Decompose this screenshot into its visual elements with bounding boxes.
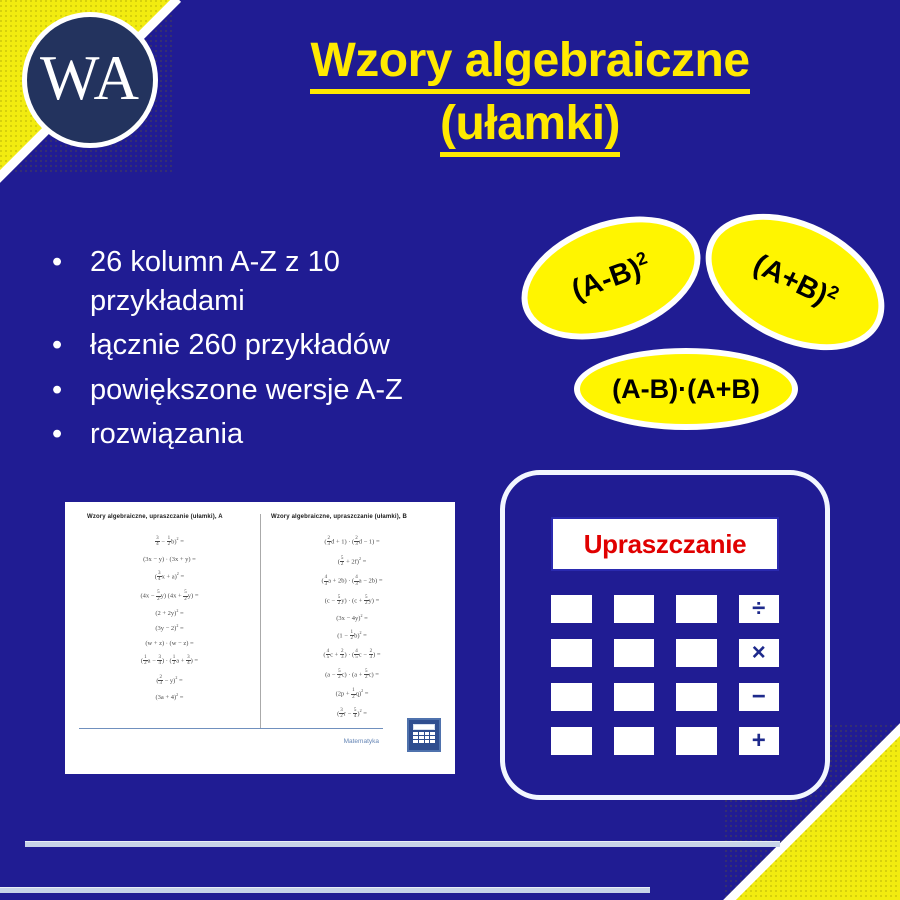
slide-canvas: WA Wzory algebraiczne (ułamki) • 26 kolu… <box>0 0 900 900</box>
badge-a-minus-b-squared: (A-B)2 <box>504 194 717 363</box>
worksheet-formula: (12a − 34) · (12a + 34) = <box>87 655 252 667</box>
logo-initials: WA <box>40 47 140 114</box>
worksheet-formula: (2p + 12q)2 = <box>271 688 433 700</box>
calculator-display: Upraszczanie <box>551 517 779 571</box>
calculator-key-blank[interactable] <box>676 595 717 623</box>
calculator-icon-display <box>413 724 435 730</box>
calculator-illustration[interactable]: Upraszczanie ÷ × − + <box>500 470 830 800</box>
badge-difference-of-squares: (A-B)·(A+B) <box>574 348 798 430</box>
calculator-key-divide[interactable]: ÷ <box>739 595 780 623</box>
worksheet-formula: (4x − 52y) (4x + 52y) = <box>87 590 252 602</box>
calculator-icon-keys <box>413 732 435 743</box>
bullet-marker: • <box>52 243 62 282</box>
badge-label: (A-B)·(A+B) <box>612 374 760 405</box>
worksheet-formula: (34x + a)2 = <box>87 571 252 583</box>
worksheet-formula: (23d + 1) · (23d − 1) = <box>271 536 433 548</box>
calculator-key-blank[interactable] <box>551 727 592 755</box>
worksheet-column-b: Wzory algebraiczne, upraszczanie (ułamki… <box>260 514 441 728</box>
worksheet-formula: (a − 52c) · (a + 52c) = <box>271 669 433 681</box>
bullet-marker: • <box>52 326 62 365</box>
calculator-keypad: ÷ × − + <box>551 595 779 755</box>
worksheet-column-b-header: Wzory algebraiczne, upraszczanie (ułamki… <box>271 514 433 520</box>
worksheet-formula: (1 − 12b)2 = <box>271 630 433 642</box>
calculator-key-blank[interactable] <box>614 639 655 667</box>
worksheet-formula: (52 + 2f)2 = <box>271 556 433 568</box>
calculator-key-minus[interactable]: − <box>739 683 780 711</box>
worksheet-formula: (45c + 23) · (45c − 23) = <box>271 649 433 661</box>
worksheet-column-a: Wzory algebraiczne, upraszczanie (ułamki… <box>79 514 260 728</box>
badge-label: (A+B)2 <box>748 248 842 316</box>
worksheet-preview[interactable]: Wzory algebraiczne, upraszczanie (ułamki… <box>65 502 455 774</box>
worksheet-formula: (3a + 4)2 = <box>87 694 252 701</box>
worksheet-formula: (3y − 2)2 = <box>87 625 252 632</box>
calculator-key-blank[interactable] <box>551 639 592 667</box>
title-line-2: (ułamki) <box>180 95 880 154</box>
divider-rule-lower <box>0 887 650 893</box>
calculator-key-blank[interactable] <box>551 595 592 623</box>
feature-list: • 26 kolumn A-Z z 10 przykładami • łączn… <box>42 243 502 460</box>
divider-rule-upper <box>25 841 780 847</box>
brand-logo: WA <box>22 12 158 148</box>
list-item-label: rozwiązania <box>90 418 243 450</box>
list-item-label: powiększone wersje A-Z <box>90 374 403 406</box>
worksheet-formula: 34 − 12b)2 = <box>87 536 252 548</box>
bullet-marker: • <box>52 371 62 410</box>
calculator-key-blank[interactable] <box>614 727 655 755</box>
list-item: • rozwiązania <box>42 415 502 454</box>
calculator-key-blank[interactable] <box>676 727 717 755</box>
bullet-marker: • <box>52 415 62 454</box>
calculator-key-blank[interactable] <box>551 683 592 711</box>
calculator-key-blank[interactable] <box>676 683 717 711</box>
worksheet-formula: (3x − 4y)2 = <box>271 615 433 622</box>
worksheet-footer-label: Matematyka <box>344 738 379 745</box>
calculator-icon <box>407 718 441 752</box>
worksheet-formula: (3x − y) · (3x + y) = <box>87 556 252 563</box>
list-item: • 26 kolumn A-Z z 10 przykładami <box>42 243 502 320</box>
title-line-1: Wzory algebraiczne <box>180 32 880 91</box>
worksheet-columns: Wzory algebraiczne, upraszczanie (ułamki… <box>79 514 441 728</box>
list-item: • łącznie 260 przykładów <box>42 326 502 365</box>
calculator-key-blank[interactable] <box>614 683 655 711</box>
worksheet-formula: (w + z) · (w − z) = <box>87 640 252 647</box>
calculator-key-multiply[interactable]: × <box>739 639 780 667</box>
calculator-display-text: Upraszczanie <box>584 529 747 560</box>
list-item: • powiększone wersje A-Z <box>42 371 502 410</box>
worksheet-footer: Matematyka <box>79 718 441 760</box>
calculator-key-blank[interactable] <box>614 595 655 623</box>
list-item-label: 26 kolumn A-Z z 10 przykładami <box>90 246 340 317</box>
badge-label: (A-B)2 <box>567 249 654 308</box>
page-title: Wzory algebraiczne (ułamki) <box>180 32 880 157</box>
worksheet-formula: (43a + 2b) · (43a − 2b) = <box>271 575 433 587</box>
worksheet-formula: (2 + 2y)2 = <box>87 610 252 617</box>
worksheet-formula: (23 − y)2 = <box>87 675 252 687</box>
list-item-label: łącznie 260 przykładów <box>90 329 390 361</box>
calculator-key-plus[interactable]: + <box>739 727 780 755</box>
worksheet-formula: (c − 52y) · (c + 52y) = <box>271 595 433 607</box>
worksheet-footer-rule <box>79 728 383 729</box>
calculator-key-blank[interactable] <box>676 639 717 667</box>
worksheet-column-a-header: Wzory algebraiczne, upraszczanie (ułamki… <box>87 514 252 520</box>
